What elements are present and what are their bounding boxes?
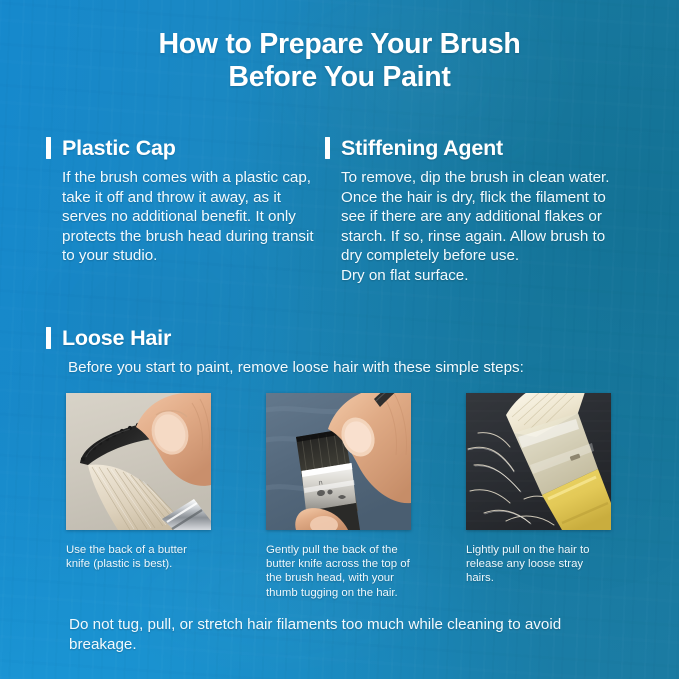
step-item: Use the back of a butter knife (plastic …: [66, 393, 211, 600]
section-plastic-cap: Plastic Cap If the brush comes with a pl…: [46, 136, 318, 266]
step-caption: Lightly pull on the hair to release any …: [466, 543, 611, 586]
page-title-line-1: How to Prepare Your Brush: [158, 28, 520, 60]
page-title: How to Prepare Your Brush Before You Pai…: [0, 28, 679, 94]
section-stiffening-agent-heading: Stiffening Agent: [341, 136, 503, 160]
loose-stray-hairs-photo: [466, 393, 611, 530]
section-loose-hair-header: Loose Hair: [46, 326, 636, 350]
section-plastic-cap-header: Plastic Cap: [46, 136, 318, 160]
step-item: n: [266, 393, 411, 600]
steps-photo-strip: Use the back of a butter knife (plastic …: [66, 393, 611, 600]
section-stiffening-agent: Stiffening Agent To remove, dip the brus…: [325, 136, 630, 286]
section-stiffening-agent-header: Stiffening Agent: [325, 136, 630, 160]
accent-bar-icon: [46, 137, 51, 159]
section-loose-hair-intro: Before you start to paint, remove loose …: [68, 358, 636, 378]
section-plastic-cap-body: If the brush comes with a plastic cap, t…: [62, 168, 318, 266]
accent-bar-icon: [46, 327, 51, 349]
step-caption: Use the back of a butter knife (plastic …: [66, 543, 211, 571]
butter-knife-against-brush-photo: [66, 393, 211, 530]
section-loose-hair-heading: Loose Hair: [62, 326, 171, 350]
section-plastic-cap-heading: Plastic Cap: [62, 136, 176, 160]
accent-bar-icon: [325, 137, 330, 159]
section-stiffening-agent-body: To remove, dip the brush in clean water.…: [341, 168, 630, 286]
section-loose-hair: Loose Hair Before you start to paint, re…: [46, 326, 636, 378]
step-item: Lightly pull on the hair to release any …: [466, 393, 611, 600]
footer-warning-note: Do not tug, pull, or stretch hair filame…: [69, 615, 629, 654]
pulling-knife-across-brush-head-photo: n: [266, 393, 411, 530]
infographic-poster: How to Prepare Your Brush Before You Pai…: [0, 0, 679, 679]
page-title-line-2: Before You Paint: [0, 61, 679, 94]
step-caption: Gently pull the back of the butter knife…: [266, 543, 411, 600]
